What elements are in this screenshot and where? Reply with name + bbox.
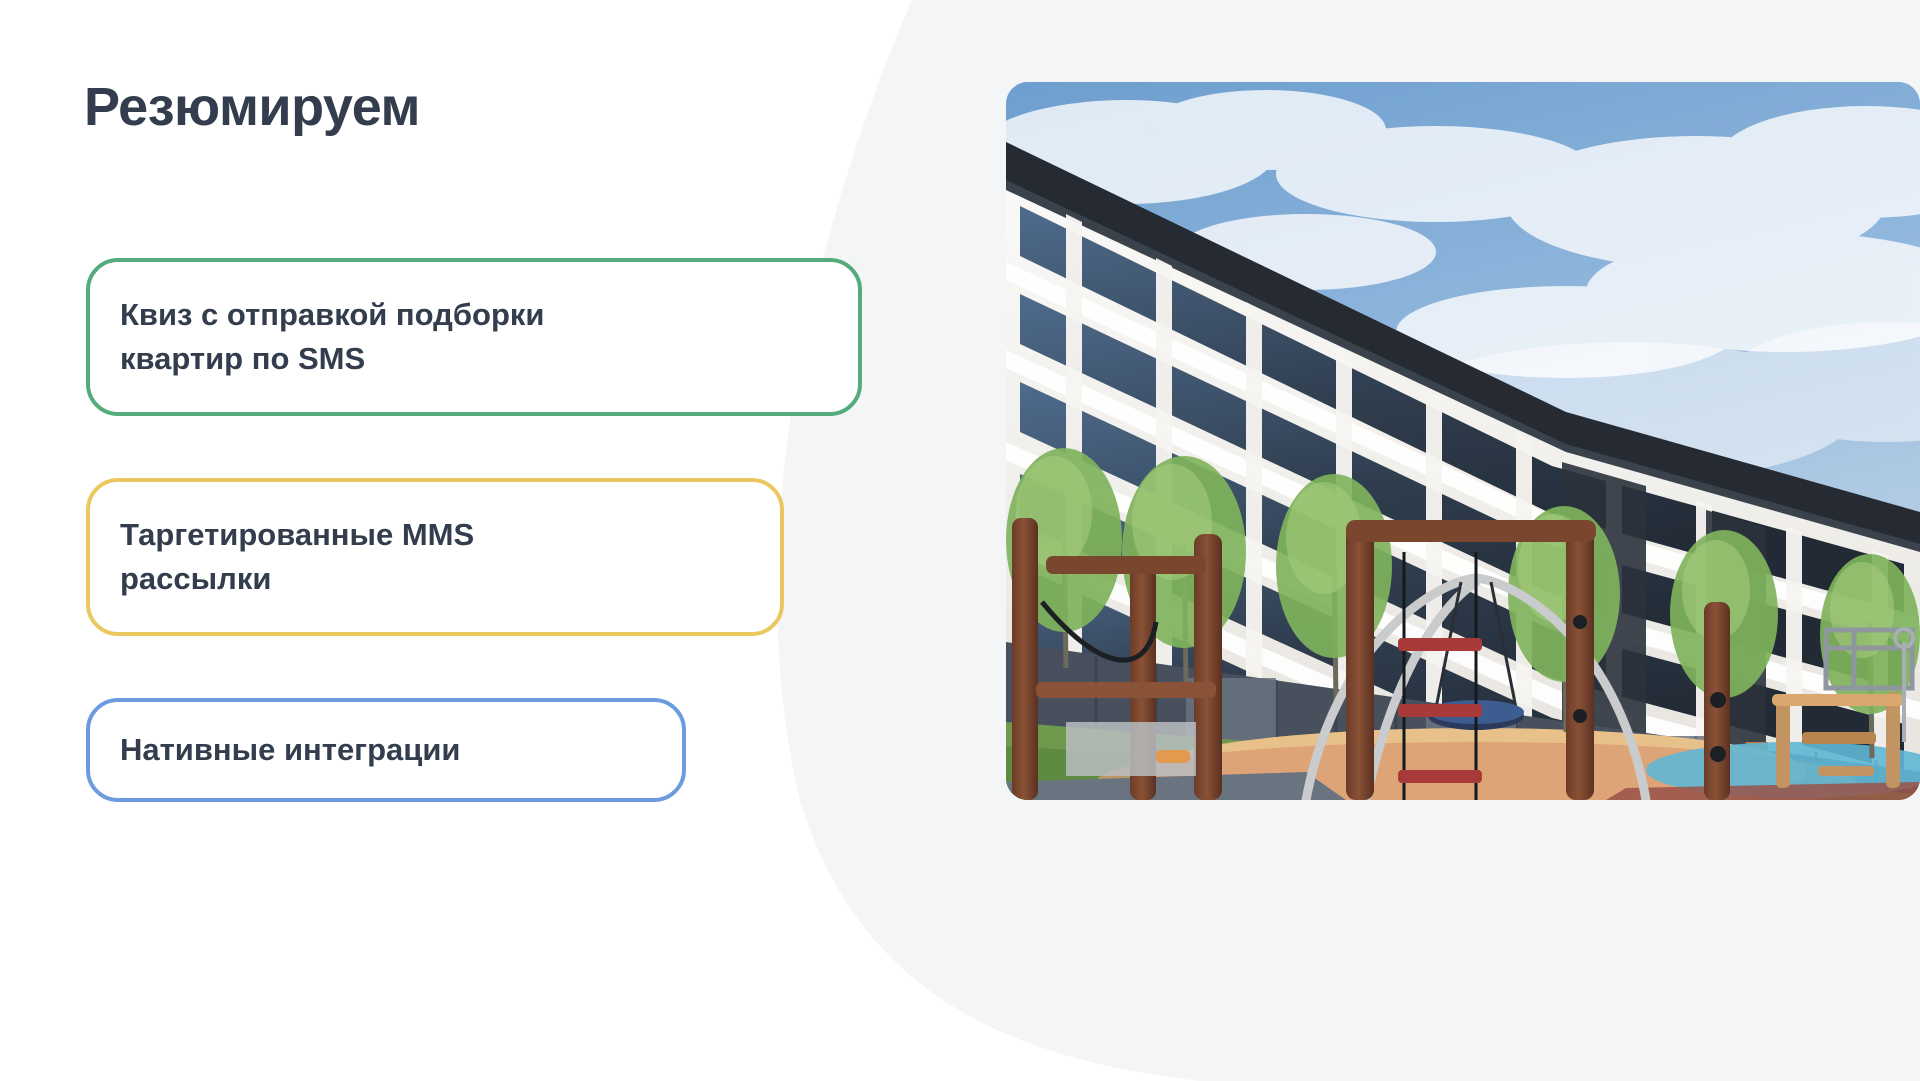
summary-card-quiz-sms[interactable]: Квиз с отправкой подборки квартир по SMS bbox=[86, 258, 862, 416]
summary-card-label: Квиз с отправкой подборки квартир по SMS bbox=[90, 293, 564, 381]
slide-root: Резюмируем Квиз с отправкой подборки ква… bbox=[0, 0, 1920, 1081]
summary-card-list: Квиз с отправкой подборки квартир по SMS… bbox=[86, 258, 886, 802]
photo-illustration bbox=[1006, 82, 1920, 800]
summary-card-targeted-mms[interactable]: Таргетированные MMS рассылки bbox=[86, 478, 784, 636]
left-content-column: Резюмируем Квиз с отправкой подборки ква… bbox=[0, 0, 960, 1081]
residential-complex-photo bbox=[1006, 82, 1920, 800]
page-title: Резюмируем bbox=[84, 78, 420, 137]
summary-card-label: Нативные интеграции bbox=[90, 728, 480, 772]
summary-card-native-integrations[interactable]: Нативные интеграции bbox=[86, 698, 686, 802]
summary-card-label: Таргетированные MMS рассылки bbox=[90, 513, 494, 601]
